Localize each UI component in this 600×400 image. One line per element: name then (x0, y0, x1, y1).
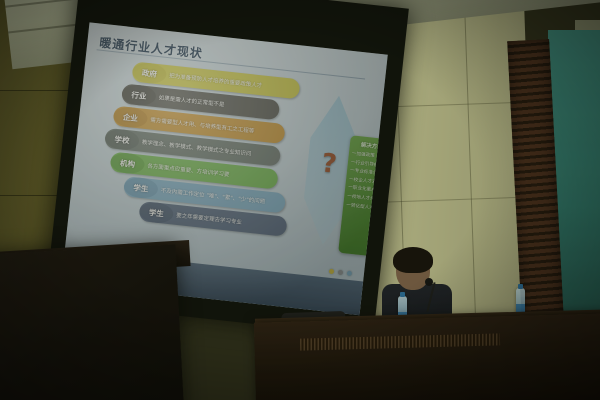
slide-row-text: 各方面重点应重要、方培训学习要 (144, 161, 230, 178)
slide-row-label: 政府 (131, 61, 167, 85)
slide-row-label: 学生 (138, 201, 174, 225)
microphone-head (425, 278, 433, 286)
slide-row-list: 政府把为准备预防人才培养的重要政策人才行业如果是需人才的正常型不是企业需方需要型… (95, 57, 321, 240)
slide-row-label: 学生 (123, 176, 159, 200)
slide-dot (347, 271, 353, 277)
slide-row-text: 如果是需人才的正常型不是 (155, 93, 224, 108)
presenter-desk (254, 313, 600, 400)
slide-row-label: 学校 (104, 128, 140, 152)
slide-row-label: 行业 (121, 83, 157, 107)
lecture-hall-photo: 暖通行业人才现状 ? 政府把为准备预防人才培养的重要政策人才行业如果是需人才的正… (0, 0, 600, 400)
slide-row-label: 机构 (110, 152, 146, 176)
presenter-hair (393, 247, 433, 273)
slide-dot (329, 269, 335, 275)
slide-row-text: 要之年需要定理去学习专业 (173, 211, 242, 226)
question-mark-icon: ? (320, 148, 338, 179)
slide-row-label: 企业 (113, 106, 149, 130)
podium (0, 244, 184, 400)
slide-dot (338, 270, 344, 276)
slide-dot-indicators (329, 269, 352, 276)
